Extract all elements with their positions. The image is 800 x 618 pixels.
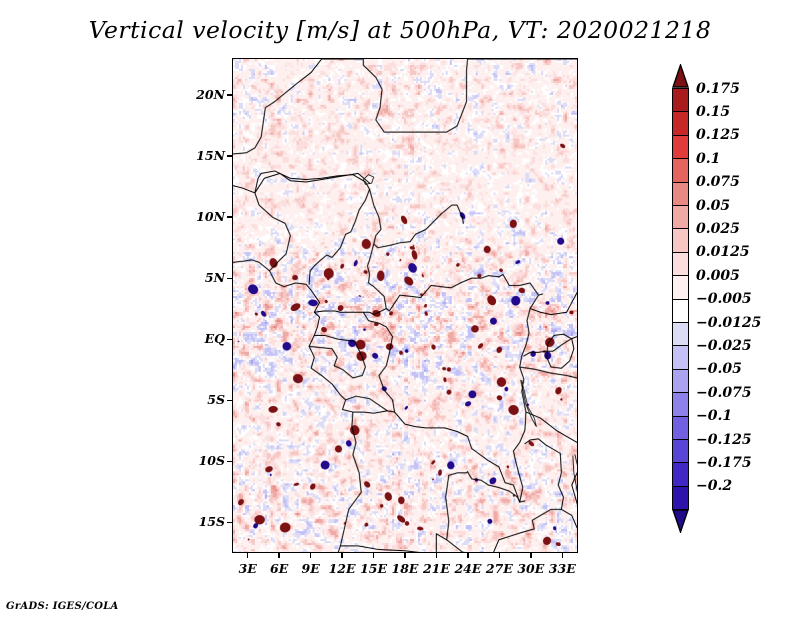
y-axis-label: 10S bbox=[170, 453, 225, 468]
colorbar-tick-label: 0.0125 bbox=[696, 245, 750, 259]
colorbar-swatch bbox=[672, 275, 689, 300]
colorbar-swatch bbox=[672, 182, 689, 207]
grads-credit: GrADS: IGES/COLA bbox=[6, 601, 119, 612]
colorbar-tick-label: −0.125 bbox=[696, 433, 752, 447]
y-axis-label: 5S bbox=[170, 392, 225, 407]
y-axis-tick bbox=[227, 339, 232, 341]
y-axis-label: 15S bbox=[170, 514, 225, 529]
x-axis-tick bbox=[373, 553, 375, 558]
colorbar-swatch bbox=[672, 158, 689, 183]
y-axis-label: 5N bbox=[170, 270, 225, 285]
colorbar-swatch bbox=[672, 486, 689, 511]
colorbar-swatch bbox=[672, 322, 689, 347]
y-axis-tick bbox=[227, 522, 232, 524]
colorbar-tick-label: 0.125 bbox=[696, 128, 740, 142]
x-axis-tick bbox=[499, 553, 501, 558]
colorbar-swatch bbox=[672, 439, 689, 464]
y-axis-tick bbox=[227, 400, 232, 402]
y-axis-label: EQ bbox=[170, 331, 225, 346]
colorbar-swatch bbox=[672, 111, 689, 136]
colorbar-tick-label: −0.1 bbox=[696, 409, 732, 423]
x-axis-tick bbox=[247, 553, 249, 558]
colorbar-tick-label: 0.1 bbox=[696, 152, 720, 166]
colorbar-swatch bbox=[672, 369, 689, 394]
colorbar-swatch bbox=[672, 205, 689, 230]
x-axis-tick bbox=[278, 553, 280, 558]
y-axis-tick bbox=[227, 278, 232, 280]
y-axis-tick bbox=[227, 216, 232, 218]
x-axis-tick bbox=[404, 553, 406, 558]
colorbar-swatch bbox=[672, 416, 689, 441]
x-axis-tick bbox=[530, 553, 532, 558]
x-axis-tick bbox=[341, 553, 343, 558]
colorbar-swatch bbox=[672, 345, 689, 370]
x-axis-tick bbox=[467, 553, 469, 558]
colorbar-swatch bbox=[672, 135, 689, 160]
y-axis-tick bbox=[227, 155, 232, 157]
colorbar-tick-label: 0.05 bbox=[696, 199, 730, 213]
colorbar-tick-label: 0.025 bbox=[696, 222, 740, 236]
colorbar-tick-label: 0.005 bbox=[696, 269, 740, 283]
colorbar-tick-label: 0.075 bbox=[696, 175, 740, 189]
colorbar-tick-label: −0.175 bbox=[696, 456, 752, 470]
y-axis-label: 10N bbox=[170, 209, 225, 224]
colorbar-swatch bbox=[672, 299, 689, 324]
colorbar-swatch bbox=[672, 462, 689, 487]
y-axis-tick bbox=[227, 94, 232, 96]
colorbar-max-arrow bbox=[672, 64, 689, 88]
colorbar-tick-label: −0.05 bbox=[696, 362, 742, 376]
grads-figure: Vertical velocity [m/s] at 500hPa, VT: 2… bbox=[0, 0, 800, 618]
colorbar-min-arrow bbox=[672, 509, 689, 533]
colorbar-tick-label: −0.005 bbox=[696, 292, 752, 306]
colorbar-tick-label: −0.075 bbox=[696, 386, 752, 400]
x-axis-label: 33E bbox=[540, 561, 584, 576]
y-axis-tick bbox=[227, 461, 232, 463]
colorbar-tick-label: −0.2 bbox=[696, 479, 732, 493]
colorbar[interactable]: 0.1750.150.1250.10.0750.050.0250.01250.0… bbox=[669, 60, 789, 556]
y-axis-label: 15N bbox=[170, 148, 225, 163]
country-borders-overlay bbox=[233, 59, 577, 552]
colorbar-tick-label: −0.025 bbox=[696, 339, 752, 353]
map-plot-area[interactable] bbox=[232, 58, 578, 553]
y-axis-label: 20N bbox=[170, 87, 225, 102]
colorbar-tick-label: −0.0125 bbox=[696, 316, 761, 330]
colorbar-swatch bbox=[672, 392, 689, 417]
x-axis-tick bbox=[562, 553, 564, 558]
page-title: Vertical velocity [m/s] at 500hPa, VT: 2… bbox=[0, 16, 800, 44]
x-axis-tick bbox=[310, 553, 312, 558]
colorbar-swatch bbox=[672, 228, 689, 253]
colorbar-swatch bbox=[672, 252, 689, 277]
colorbar-tick-label: 0.175 bbox=[696, 82, 740, 96]
colorbar-tick-label: 0.15 bbox=[696, 105, 730, 119]
x-axis-tick bbox=[436, 553, 438, 558]
colorbar-swatch bbox=[672, 88, 689, 113]
